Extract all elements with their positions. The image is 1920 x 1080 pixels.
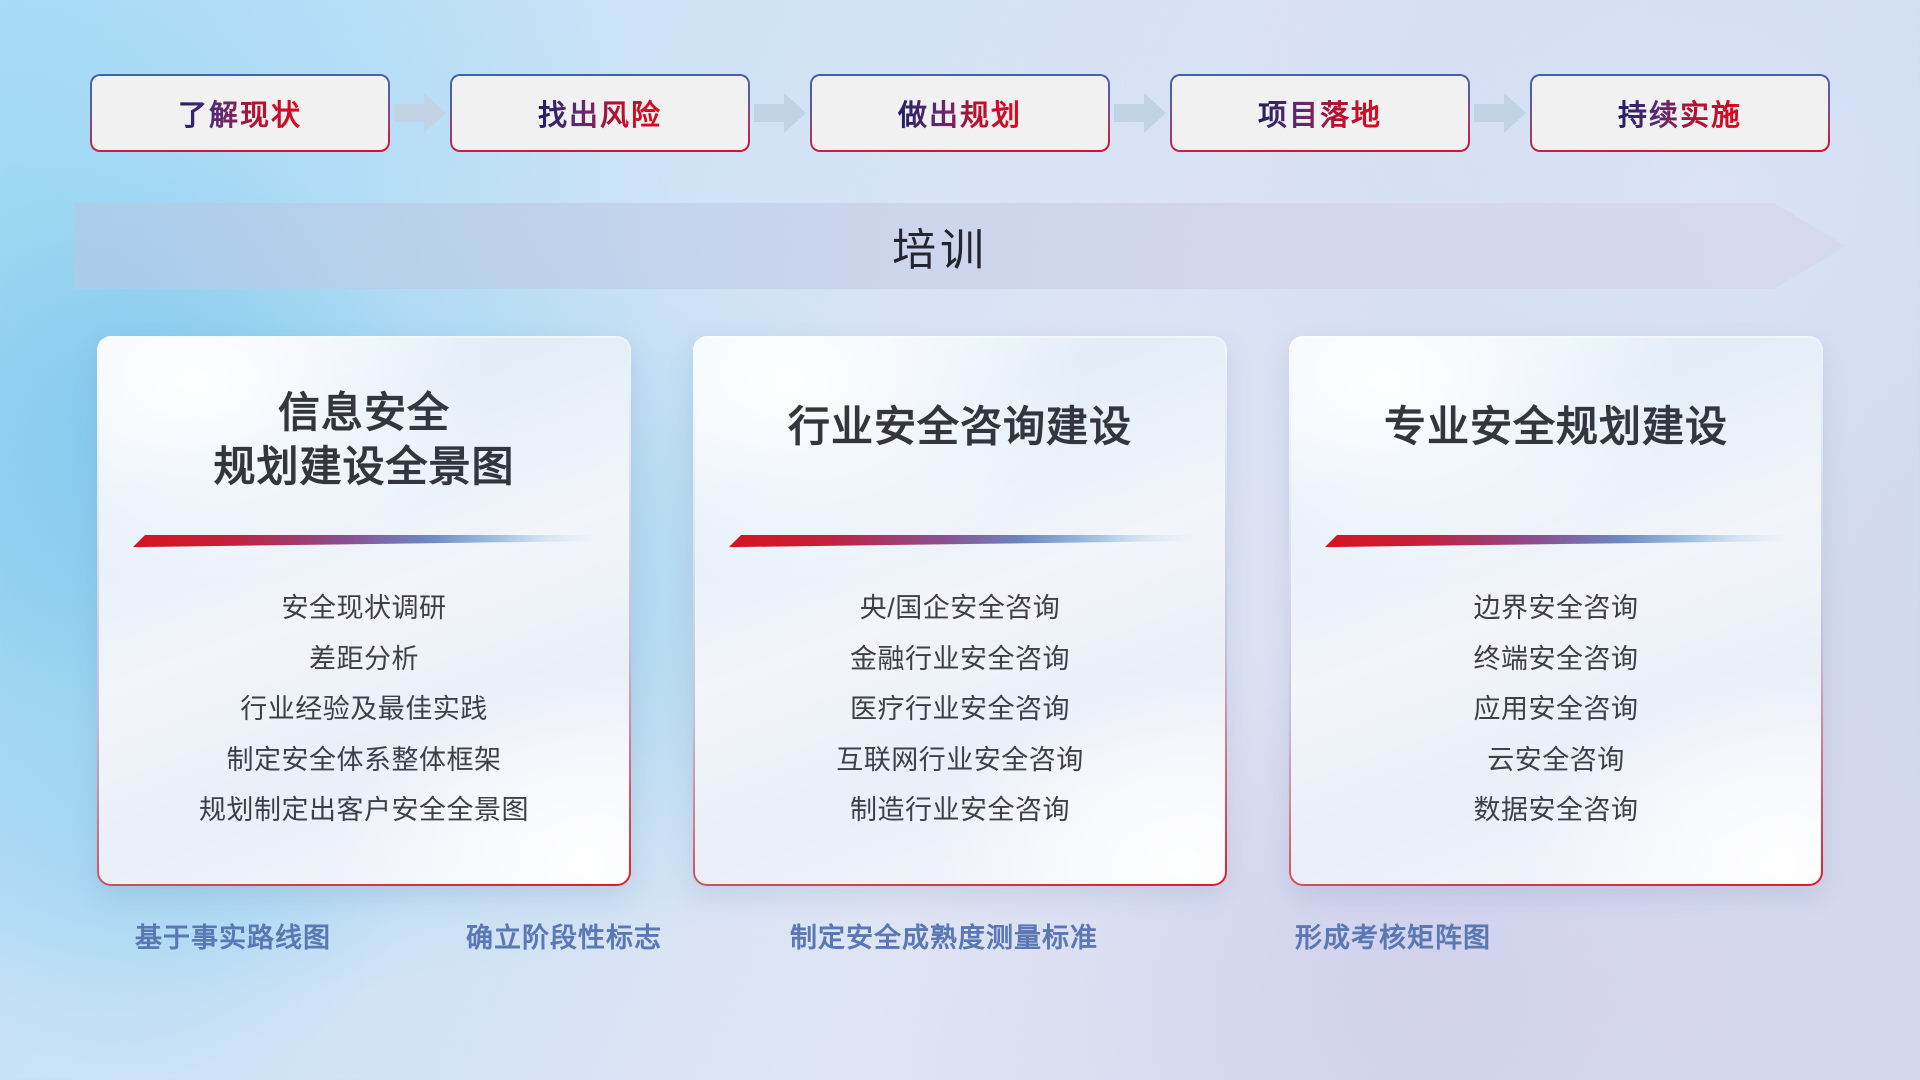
- process-step-body: 了解现状: [92, 76, 388, 150]
- service-card-2[interactable]: 行业安全咨询建设央/国企安全咨询金融行业安全咨询医疗行业安全咨询互联网行业安全咨…: [693, 336, 1227, 886]
- list-item: 终端安全咨询: [1474, 637, 1639, 682]
- service-card-title: 信息安全 规划建设全景图: [213, 386, 514, 494]
- process-step-body: 找出风险: [452, 76, 748, 150]
- footnote-label-1: 基于事实路线图: [135, 916, 331, 955]
- list-item: 规划制定出客户安全全景图: [199, 788, 529, 833]
- footnote-row: 基于事实路线图确立阶段性标志制定安全成熟度测量标准形成考核矩阵图: [0, 916, 1920, 970]
- process-step-label: 了解现状: [178, 92, 302, 134]
- list-item: 医疗行业安全咨询: [850, 687, 1070, 732]
- process-step-3[interactable]: 做出规划: [810, 74, 1110, 152]
- step-arrow-icon: [1110, 91, 1170, 135]
- training-banner: 培训: [74, 203, 1846, 289]
- card-divider-bar: [1325, 534, 1791, 548]
- service-card-body: 专业安全规划建设边界安全咨询终端安全咨询应用安全咨询云安全咨询数据安全咨询: [1291, 338, 1821, 884]
- service-card-list: 边界安全咨询终端安全咨询应用安全咨询云安全咨询数据安全咨询: [1291, 586, 1821, 833]
- footnote-label-2: 确立阶段性标志: [466, 916, 662, 955]
- list-item: 边界安全咨询: [1474, 586, 1639, 631]
- process-step-body: 持续实施: [1532, 76, 1828, 150]
- list-item: 云安全咨询: [1487, 738, 1625, 783]
- list-item: 互联网行业安全咨询: [836, 738, 1084, 783]
- list-item: 差距分析: [309, 637, 419, 682]
- process-step-5[interactable]: 持续实施: [1530, 74, 1830, 152]
- card-row: 信息安全 规划建设全景图安全现状调研差距分析行业经验及最佳实践制定安全体系整体框…: [0, 336, 1920, 886]
- list-item: 央/国企安全咨询: [860, 586, 1061, 631]
- card-divider-bar: [729, 534, 1195, 548]
- service-card-1[interactable]: 信息安全 规划建设全景图安全现状调研差距分析行业经验及最佳实践制定安全体系整体框…: [97, 336, 631, 886]
- step-arrow-icon: [750, 91, 810, 135]
- list-item: 安全现状调研: [282, 586, 447, 631]
- footnote-label-3: 制定安全成熟度测量标准: [790, 916, 1098, 955]
- process-step-label: 项目落地: [1258, 92, 1382, 134]
- list-item: 行业经验及最佳实践: [240, 687, 488, 732]
- service-card-body: 行业安全咨询建设央/国企安全咨询金融行业安全咨询医疗行业安全咨询互联网行业安全咨…: [695, 338, 1225, 884]
- process-step-label: 做出规划: [898, 92, 1022, 134]
- footnote-label-4: 形成考核矩阵图: [1295, 916, 1491, 955]
- right-arrow-icon: [754, 93, 806, 133]
- service-card-list: 安全现状调研差距分析行业经验及最佳实践制定安全体系整体框架规划制定出客户安全全景…: [99, 586, 629, 833]
- service-card-3[interactable]: 专业安全规划建设边界安全咨询终端安全咨询应用安全咨询云安全咨询数据安全咨询: [1289, 336, 1823, 886]
- process-step-body: 项目落地: [1172, 76, 1468, 150]
- step-arrow-icon: [1470, 91, 1530, 135]
- service-card-title: 专业安全规划建设: [1384, 400, 1728, 454]
- process-step-row: 了解现状找出风险做出规划项目落地持续实施: [0, 74, 1920, 152]
- process-step-label: 持续实施: [1618, 92, 1742, 134]
- card-divider: [1325, 534, 1791, 548]
- service-card-list: 央/国企安全咨询金融行业安全咨询医疗行业安全咨询互联网行业安全咨询制造行业安全咨…: [695, 586, 1225, 833]
- service-card-title: 行业安全咨询建设: [788, 400, 1132, 454]
- process-step-1[interactable]: 了解现状: [90, 74, 390, 152]
- process-step-body: 做出规划: [812, 76, 1108, 150]
- card-divider-bar: [133, 534, 599, 548]
- right-arrow-icon: [394, 93, 446, 133]
- process-step-2[interactable]: 找出风险: [450, 74, 750, 152]
- list-item: 制造行业安全咨询: [850, 788, 1070, 833]
- card-divider: [133, 534, 599, 548]
- service-card-body: 信息安全 规划建设全景图安全现状调研差距分析行业经验及最佳实践制定安全体系整体框…: [99, 338, 629, 884]
- list-item: 金融行业安全咨询: [850, 637, 1070, 682]
- list-item: 制定安全体系整体框架: [227, 738, 502, 783]
- right-arrow-icon: [1114, 93, 1166, 133]
- banner-title: 培训: [892, 214, 988, 278]
- list-item: 数据安全咨询: [1474, 788, 1639, 833]
- step-arrow-icon: [390, 91, 450, 135]
- list-item: 应用安全咨询: [1474, 687, 1639, 732]
- process-step-label: 找出风险: [538, 92, 662, 134]
- process-step-4[interactable]: 项目落地: [1170, 74, 1470, 152]
- card-divider: [729, 534, 1195, 548]
- right-arrow-icon: [1474, 93, 1526, 133]
